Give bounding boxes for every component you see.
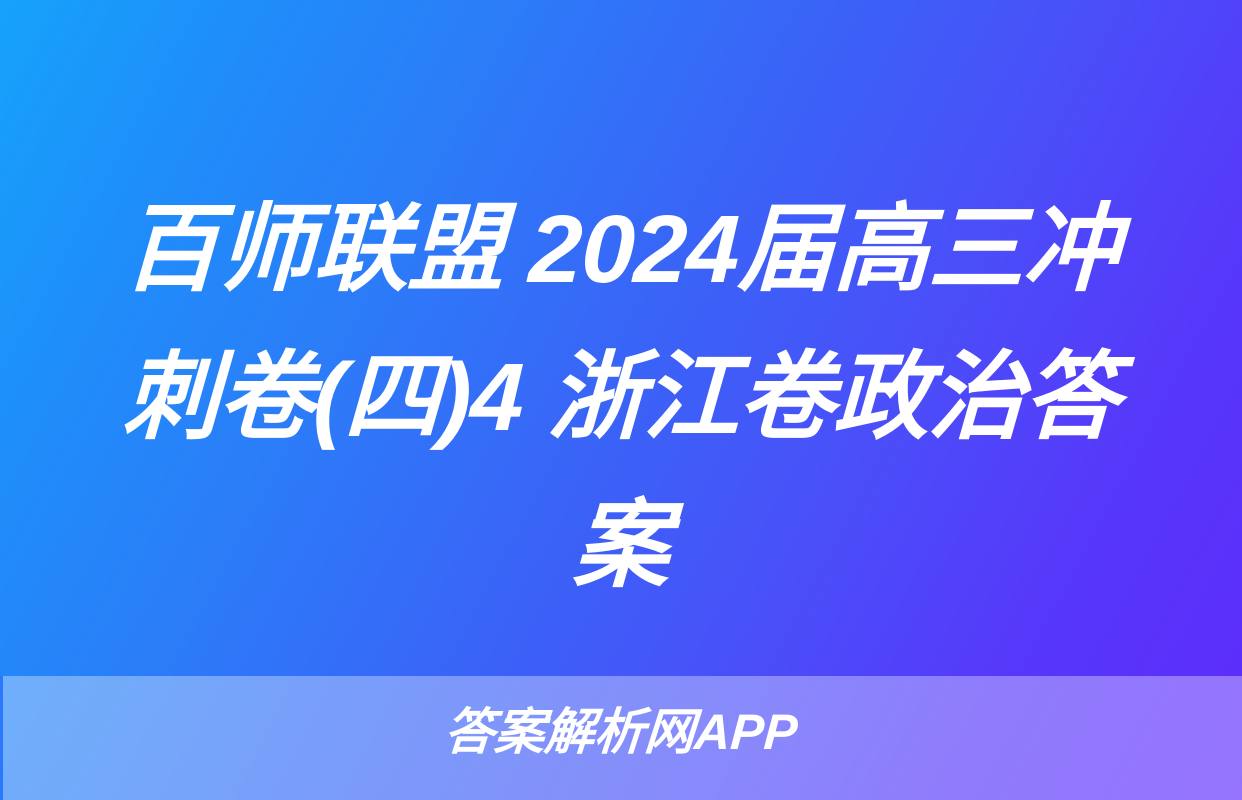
poster-canvas: 百师联盟 2024届高三冲 刺卷(四)4 浙江卷政治答 案 答案解析网APP [0,0,1242,800]
title-line-3: 案 [58,472,1183,620]
page-title: 百师联盟 2024届高三冲 刺卷(四)4 浙江卷政治答 案 [61,176,1181,620]
title-line-2: 刺卷(四)4 浙江卷政治答 [58,324,1183,472]
title-line-1: 百师联盟 2024届高三冲 [58,176,1183,324]
app-watermark: 答案解析网APP [0,703,1242,761]
